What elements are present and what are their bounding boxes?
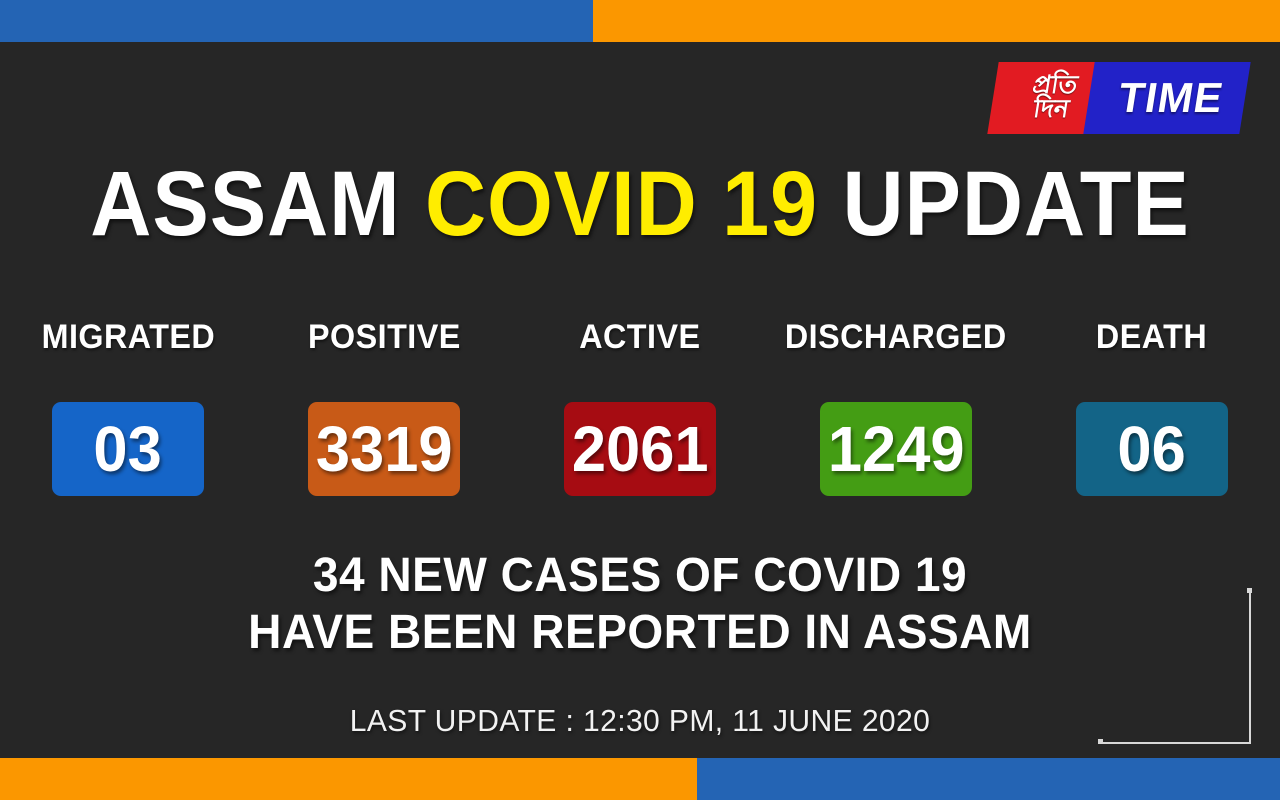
stat-value-positive: 3319 [316, 417, 453, 481]
stat-death: DEATH 06 [1024, 318, 1280, 508]
bottom-color-bar [0, 758, 1280, 800]
logo-time-wordmark: TIME [1095, 62, 1246, 134]
summary-message-line-1: 34 NEW CASES OF COVID 19 [26, 548, 1255, 605]
stat-box-discharged: 1249 [820, 402, 972, 496]
stat-migrated: MIGRATED 03 [0, 318, 256, 508]
stat-label-discharged: DISCHARGED [785, 318, 1007, 357]
bracket-top-dot [1247, 588, 1252, 593]
stat-discharged: DISCHARGED 1249 [768, 318, 1024, 508]
title-part-assam: ASSAM [90, 153, 400, 255]
channel-logo: প্রতি দিন TIME [993, 62, 1245, 134]
stat-value-death: 06 [1118, 417, 1186, 481]
top-bar-blue-segment [0, 0, 593, 42]
infographic-canvas: প্রতি দিন TIME ASSAM COVID 19 UPDATE MIG… [0, 0, 1280, 800]
bottom-bar-blue-segment [697, 758, 1280, 800]
last-update-text: LAST UPDATE : 12:30 PM, 11 JUNE 2020 [19, 703, 1261, 739]
bracket-horizontal-line [1098, 742, 1251, 744]
statistics-row: MIGRATED 03 POSITIVE 3319 ACTIVE 2061 DI… [0, 318, 1280, 508]
stat-label-migrated: MIGRATED [41, 318, 215, 357]
bracket-vertical-line [1249, 588, 1251, 744]
stat-label-positive: POSITIVE [308, 318, 461, 357]
page-title: ASSAM COVID 19 UPDATE [51, 158, 1229, 250]
top-color-bar [0, 0, 1280, 42]
title-part-covid19: COVID 19 [425, 153, 818, 255]
stat-label-active: ACTIVE [579, 318, 700, 357]
stat-positive: POSITIVE 3319 [256, 318, 512, 508]
stat-value-active: 2061 [572, 417, 709, 481]
stat-box-death: 06 [1076, 402, 1228, 496]
summary-message: 34 NEW CASES OF COVID 19 HAVE BEEN REPOR… [26, 548, 1255, 661]
bottom-bar-orange-segment [0, 758, 697, 800]
summary-message-line-2: HAVE BEEN REPORTED IN ASSAM [26, 605, 1255, 662]
bracket-left-dot [1098, 739, 1103, 744]
stat-label-death: DEATH [1096, 318, 1207, 357]
top-bar-orange-segment [593, 0, 1280, 42]
logo-pratidin-script: প্রতি দিন [994, 66, 1112, 130]
logo-script-line-1: প্রতি [1031, 74, 1079, 98]
stat-box-migrated: 03 [52, 402, 204, 496]
stat-value-migrated: 03 [94, 417, 162, 481]
stat-box-positive: 3319 [308, 402, 460, 496]
stat-active: ACTIVE 2061 [512, 318, 768, 508]
stat-box-active: 2061 [564, 402, 716, 496]
stat-value-discharged: 1249 [828, 417, 965, 481]
title-part-update: UPDATE [843, 153, 1190, 255]
logo-script-line-2: দিন [1032, 98, 1071, 122]
